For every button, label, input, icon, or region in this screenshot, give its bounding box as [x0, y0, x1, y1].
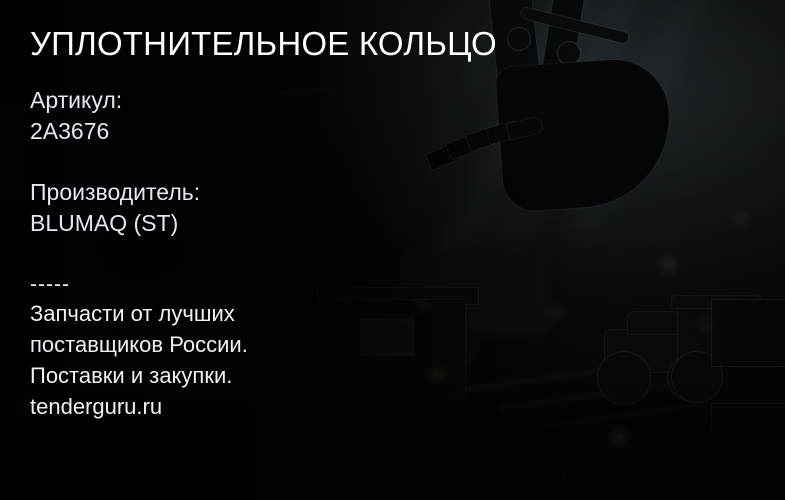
promo-line-2: поставщиков России. [30, 329, 248, 360]
promo-block: ----- Запчасти от лучших поставщиков Рос… [30, 272, 248, 422]
banner-content: УПЛОТНИТЕЛЬНОЕ КОЛЬЦО Артикул: 2A3676 Пр… [30, 0, 570, 500]
promo-line-3: Поставки и закупки. [30, 360, 248, 391]
article-label: Артикул: [30, 85, 122, 116]
excavator-pivot-pin-icon [598, 64, 628, 94]
crate-silhouette [0, 108, 26, 200]
crate-silhouette [712, 300, 785, 366]
tractor-hood-silhouette [628, 312, 680, 334]
tractor-wheel-icon [598, 352, 650, 404]
tractor-body-silhouette [678, 306, 750, 364]
bokeh-light [735, 212, 747, 224]
product-title: УПЛОТНИТЕЛЬНОЕ КОЛЬЦО [30, 24, 497, 64]
bokeh-light [700, 320, 711, 331]
article-value: 2A3676 [30, 116, 122, 147]
promo-line-1: Запчасти от лучших [30, 298, 248, 329]
separator-dashes: ----- [30, 272, 248, 298]
product-banner: УПЛОТНИТЕЛЬНОЕ КОЛЬЦО Артикул: 2A3676 Пр… [0, 0, 785, 500]
bokeh-light [612, 430, 626, 444]
manufacturer-label: Производитель: [30, 177, 200, 208]
tractor-body-silhouette [605, 330, 695, 372]
foreground-machine-silhouette [555, 430, 785, 500]
website-url[interactable]: tenderguru.ru [30, 391, 248, 422]
tractor-wheel-icon [668, 356, 712, 400]
bokeh-light [662, 258, 675, 271]
manufacturer-field: Производитель: BLUMAQ (ST) [30, 177, 200, 239]
tractor-canopy-silhouette [672, 296, 760, 308]
light-ray-icon [551, 0, 784, 251]
manufacturer-value: BLUMAQ (ST) [30, 208, 200, 239]
article-field: Артикул: 2A3676 [30, 85, 122, 147]
crate-silhouette [712, 404, 785, 466]
tractor-wheel-icon [672, 352, 722, 402]
